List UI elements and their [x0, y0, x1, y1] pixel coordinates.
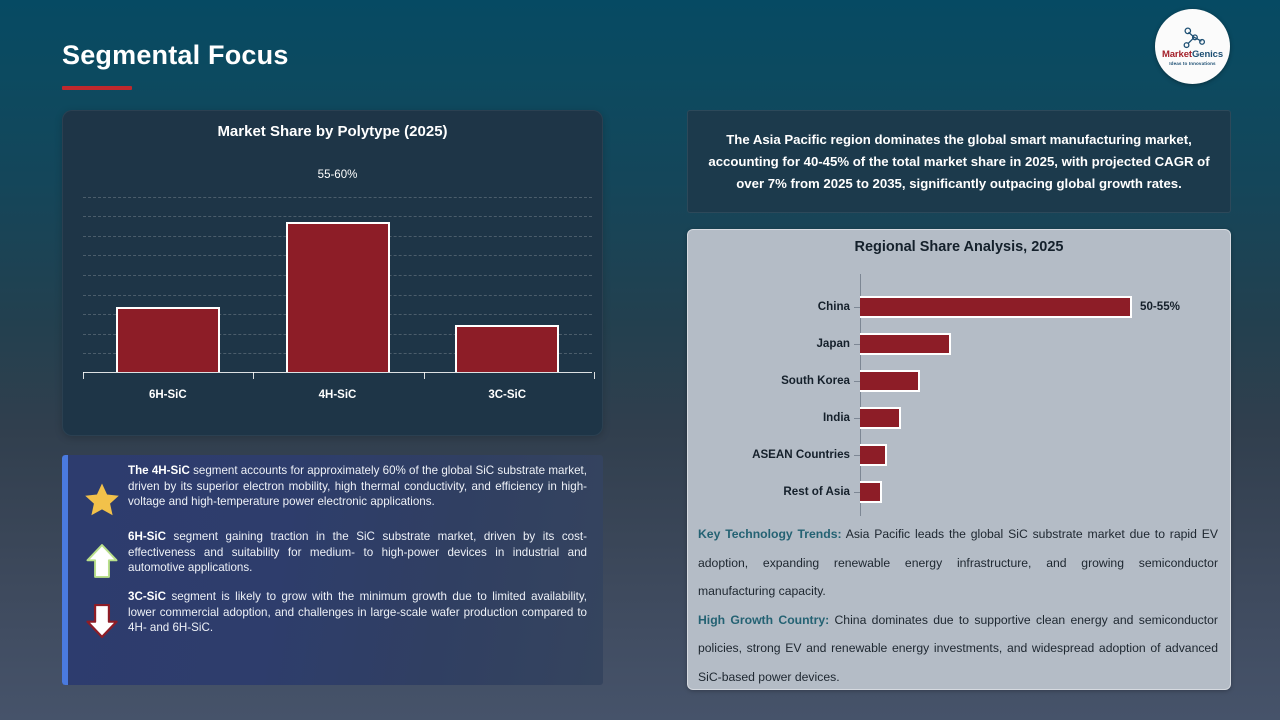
- bar-6h-sic[interactable]: [116, 307, 220, 372]
- polytype-x-axis: [83, 372, 592, 373]
- regional-label-china: China: [688, 300, 860, 313]
- regional-share-title: Regional Share Analysis, 2025: [688, 239, 1230, 255]
- network-nodes-icon: [1180, 27, 1206, 49]
- regional-bar-asean-countries[interactable]: [860, 444, 887, 466]
- x-tick: [594, 372, 595, 379]
- bar-slot: [422, 177, 592, 372]
- regional-plot-area: China50-55%JapanSouth KoreaIndiaASEAN Co…: [688, 274, 1220, 516]
- regional-row: India: [688, 399, 1220, 436]
- x-tick: [424, 372, 425, 379]
- arrow-up-icon-wrap: [76, 529, 128, 579]
- segment-insights-panel: The 4H-SiC segment accounts for approxim…: [62, 455, 603, 685]
- regional-bar-rest-of-asia[interactable]: [860, 481, 882, 503]
- regional-row: South Korea: [688, 362, 1220, 399]
- regional-share-card: Regional Share Analysis, 2025 China50-55…: [687, 229, 1231, 690]
- note-lead: Key Technology Trends:: [698, 527, 842, 541]
- note-lead: High Growth Country:: [698, 613, 829, 627]
- regional-value-label: 50-55%: [1140, 300, 1180, 313]
- logo-wordmark: MarketGenics: [1162, 50, 1223, 60]
- logo-tagline: Ideas to Innovations: [1169, 61, 1215, 66]
- regional-row: China50-55%: [688, 288, 1220, 325]
- insight-text: The 4H-SiC segment accounts for approxim…: [128, 463, 595, 510]
- title-underline-rule: [62, 86, 132, 90]
- regional-bar-china[interactable]: [860, 296, 1132, 318]
- page-title: Segmental Focus: [62, 40, 289, 71]
- x-tick: [83, 372, 84, 379]
- regional-notes: Key Technology Trends: Asia Pacific lead…: [698, 520, 1218, 692]
- polytype-plot-area: 55-60% 6H-SiC4H-SiC3C-SiC: [73, 177, 592, 407]
- x-tick: [253, 372, 254, 379]
- asia-pacific-callout: The Asia Pacific region dominates the gl…: [687, 110, 1231, 213]
- star-icon: [83, 481, 121, 519]
- insight-item: 3C-SiC segment is likely to grow with th…: [76, 589, 595, 639]
- regional-row: ASEAN Countries: [688, 436, 1220, 473]
- regional-label-rest-of-asia: Rest of Asia: [688, 485, 860, 498]
- bar-4h-sic[interactable]: [286, 222, 390, 372]
- regional-label-japan: Japan: [688, 337, 860, 350]
- insight-text: 6H-SiC segment gaining traction in the S…: [128, 529, 595, 576]
- arrow-down-icon: [85, 603, 119, 639]
- polytype-chart-title: Market Share by Polytype (2025): [63, 123, 602, 140]
- slide-stage: Segmental Focus MarketGenics Ideas to In…: [0, 0, 1280, 720]
- regional-label-south-korea: South Korea: [688, 374, 860, 387]
- regional-row: Rest of Asia: [688, 473, 1220, 510]
- category-label-3c-sic: 3C-SiC: [422, 389, 592, 401]
- polytype-bars: 55-60%: [83, 177, 592, 372]
- polytype-chart-card: Market Share by Polytype (2025) 55-60% 6…: [62, 110, 603, 436]
- regional-label-india: India: [688, 411, 860, 424]
- insight-lead: 6H-SiC: [128, 530, 166, 543]
- category-label-6h-sic: 6H-SiC: [83, 389, 253, 401]
- company-logo: MarketGenics Ideas to Innovations: [1155, 9, 1230, 84]
- insight-list: The 4H-SiC segment accounts for approxim…: [76, 463, 595, 649]
- callout-text: The Asia Pacific region dominates the gl…: [698, 129, 1220, 195]
- regional-label-asean-countries: ASEAN Countries: [688, 448, 860, 461]
- arrow-up-icon: [85, 543, 119, 579]
- regional-row: Japan: [688, 325, 1220, 362]
- bar-value-label: 55-60%: [318, 169, 358, 181]
- insight-lead: The 4H-SiC: [128, 464, 190, 477]
- note-paragraph: High Growth Country: China dominates due…: [698, 606, 1218, 692]
- bar-slot: 55-60%: [253, 177, 423, 372]
- insight-item: 6H-SiC segment gaining traction in the S…: [76, 529, 595, 579]
- insight-text: 3C-SiC segment is likely to grow with th…: [128, 589, 595, 636]
- regional-bar-india[interactable]: [860, 407, 901, 429]
- regional-bar-japan[interactable]: [860, 333, 951, 355]
- bar-3c-sic[interactable]: [455, 325, 559, 372]
- category-label-4h-sic: 4H-SiC: [253, 389, 423, 401]
- star-icon-wrap: [76, 463, 128, 519]
- arrow-down-icon-wrap: [76, 589, 128, 639]
- regional-bar-south-korea[interactable]: [860, 370, 920, 392]
- insight-lead: 3C-SiC: [128, 590, 166, 603]
- polytype-category-labels: 6H-SiC4H-SiC3C-SiC: [83, 389, 592, 401]
- insight-item: The 4H-SiC segment accounts for approxim…: [76, 463, 595, 519]
- panel-accent-bar: [62, 455, 68, 685]
- bar-slot: [83, 177, 253, 372]
- note-paragraph: Key Technology Trends: Asia Pacific lead…: [698, 520, 1218, 606]
